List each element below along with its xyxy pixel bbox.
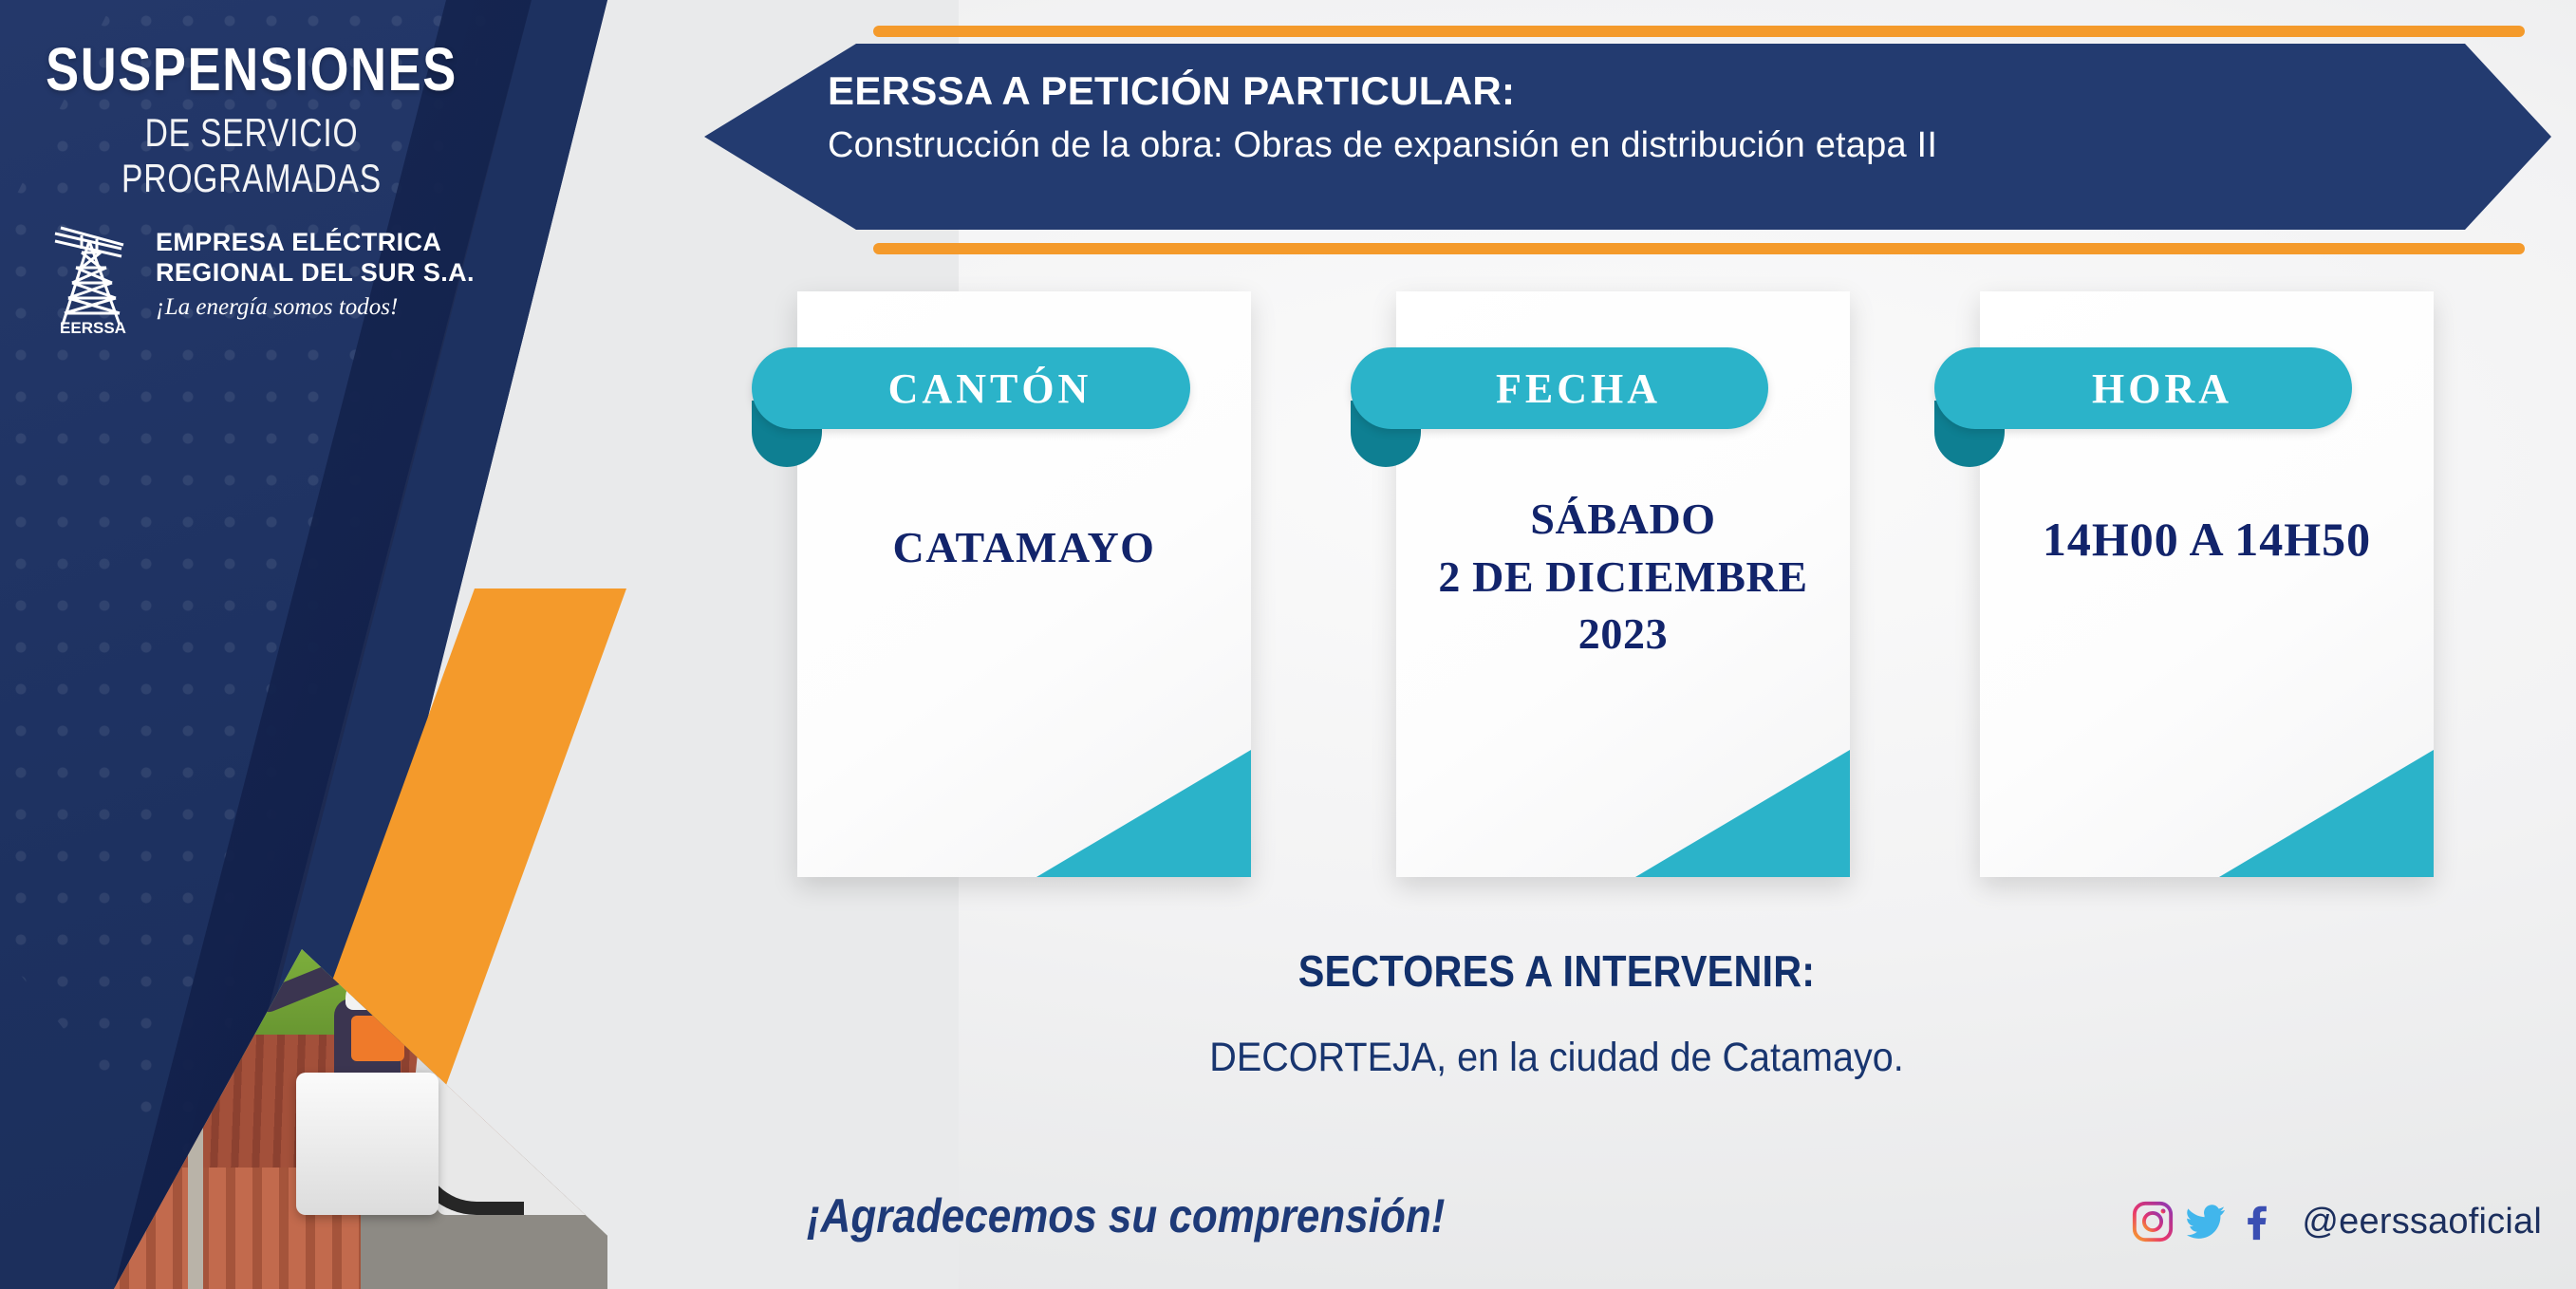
card-label-pill: HORA [1934,347,2352,429]
card-value-hora: 14H00 A 14H50 [1980,512,2434,567]
card-label-text: CANTÓN [850,364,1092,413]
card-corner-triangle [1635,750,1850,877]
suspension-notice-poster: SUSPENSIONES DE SERVICIO PROGRAMADAS EER… [0,0,2576,1289]
social-media-group: @eerssaoficial [2131,1200,2542,1243]
info-card-canton: CANTÓN CATAMAYO [797,291,1251,877]
social-handle: @eerssaoficial [2302,1202,2542,1242]
sectors-title: SECTORES A INTERVENIR: [890,945,2223,997]
poster-heading-secondary: DE SERVICIO PROGRAMADAS [50,110,453,201]
facebook-icon[interactable] [2237,1200,2281,1243]
banner-bottom-accent-bar [873,243,2525,254]
info-card-hora: HORA 14H00 A 14H50 [1980,291,2434,877]
poster-heading-primary: SUSPENSIONES [46,34,458,104]
banner-top-accent-bar [873,26,2525,37]
logo-company-line1: EMPRESA ELÉCTRICA [156,228,475,258]
banner-subtitle: Construcción de la obra: Obras de expans… [828,125,2346,166]
logo-slogan: ¡La energía somos todos! [156,294,475,321]
card-corner-triangle [2219,750,2434,877]
card-value-fecha: SÁBADO 2 DE DICIEMBRE 2023 [1396,491,1850,663]
card-label-text: FECHA [1458,364,1661,413]
eerssa-logo: EERSSA EMPRESA ELÉCTRICA REGIONAL DEL SU… [47,220,475,336]
transmission-tower-icon: EERSSA [47,220,139,336]
instagram-icon[interactable] [2131,1200,2175,1243]
svg-text:EERSSA: EERSSA [60,319,126,336]
card-value-canton: CATAMAYO [797,522,1251,572]
twitter-icon[interactable] [2184,1200,2228,1243]
card-label-pill: FECHA [1351,347,1768,429]
thanks-message: ¡Agradecemos su comprensión! [807,1188,1445,1243]
banner-title: EERSSA A PETICIÓN PARTICULAR: [828,68,2251,114]
card-label-text: HORA [2054,364,2232,413]
sectors-body: DECORTEJA, en la ciudad de Catamayo. [875,1035,2237,1081]
card-label-pill: CANTÓN [752,347,1190,429]
info-card-fecha: FECHA SÁBADO 2 DE DICIEMBRE 2023 [1396,291,1850,877]
logo-company-line2: REGIONAL DEL SUR S.A. [156,258,475,289]
card-corner-triangle [1036,750,1251,877]
